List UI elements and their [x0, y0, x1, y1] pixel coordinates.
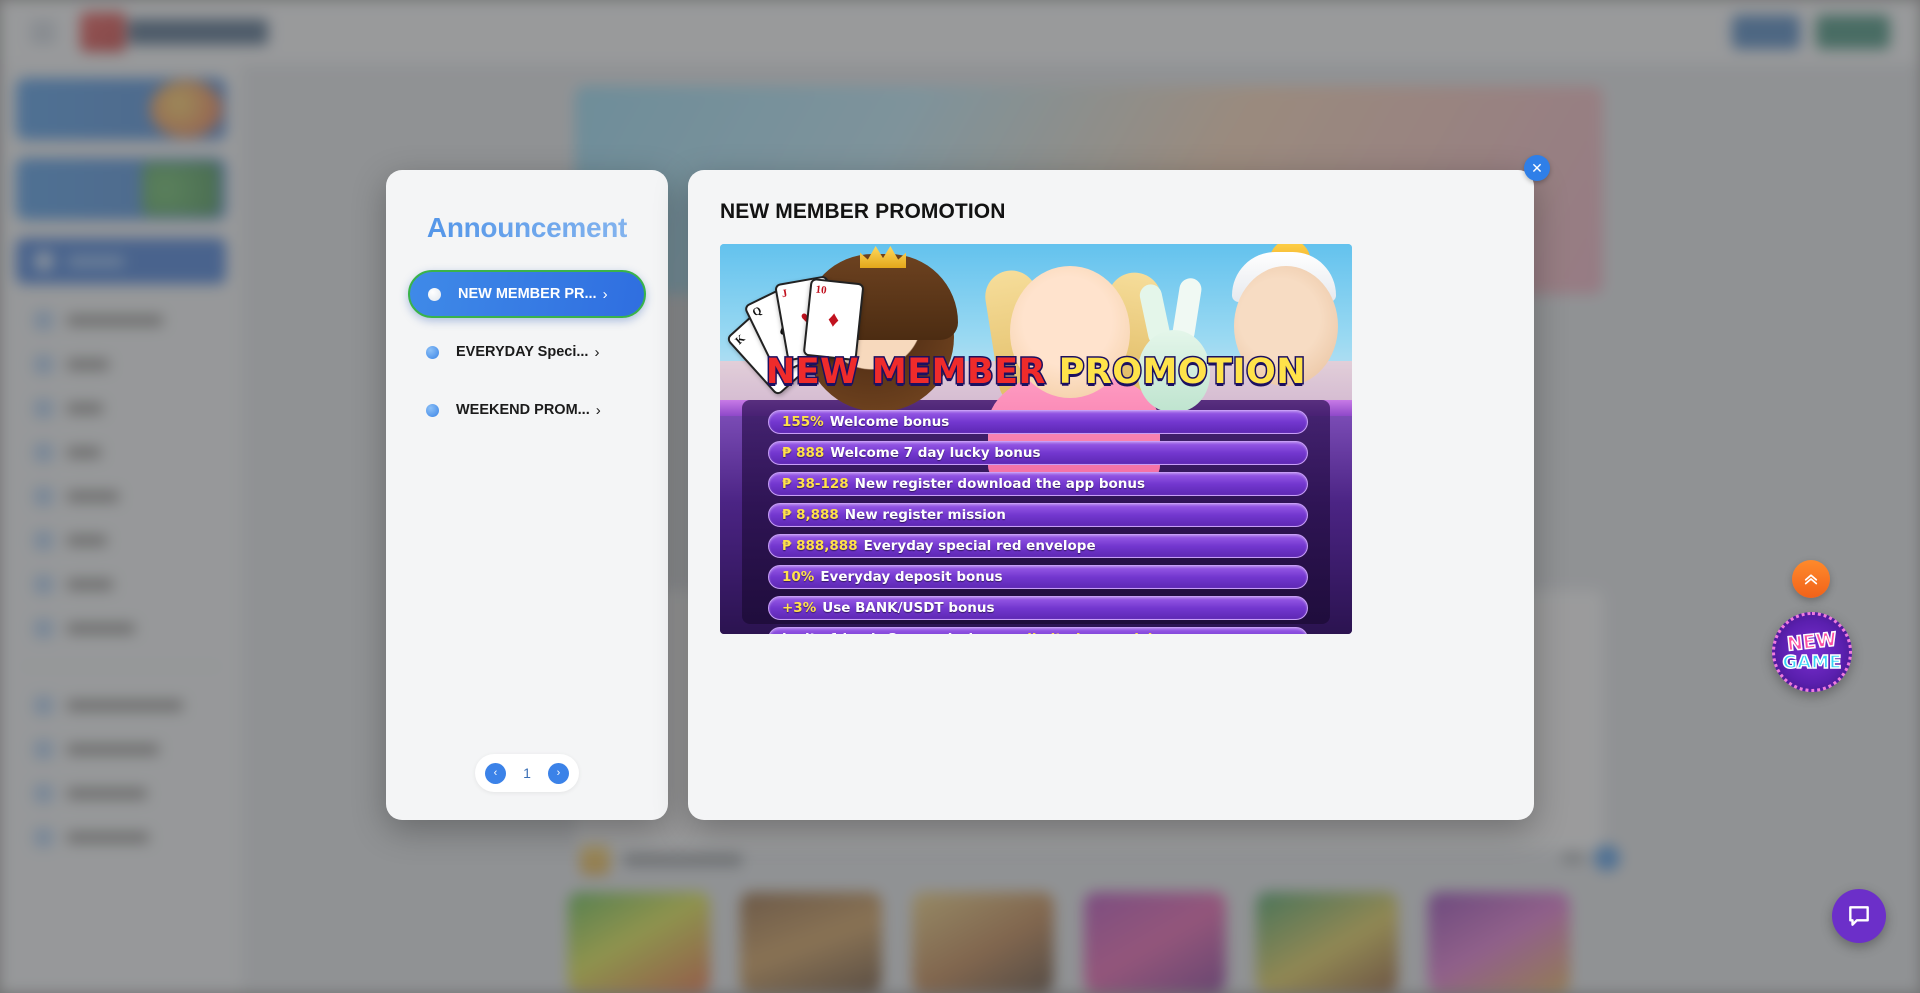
chevron-right-icon: ›	[603, 287, 608, 302]
bullet-icon	[426, 404, 439, 417]
announcement-item-label: WEEKEND PROM...	[456, 402, 590, 418]
close-icon[interactable]: ✕	[1524, 155, 1550, 181]
bonus-text: New register download the app bonus	[855, 476, 1145, 492]
bonus-row: 155% Welcome bonus	[768, 410, 1308, 434]
bonus-row: +3% Use BANK/USDT bonus	[768, 596, 1308, 620]
banner-title-part2: PROMOTION	[1059, 352, 1306, 392]
chevron-right-icon: ›	[596, 403, 601, 418]
promotion-banner-image: K ♣ Q ♠ J ♥ 10 ♦ NEW MEMBER PROMOTIO	[720, 244, 1352, 634]
pagination: ‹ 1 ›	[475, 754, 579, 792]
panel-title: Announcement	[408, 212, 646, 244]
bullet-icon	[428, 288, 441, 301]
announcement-item-new-member[interactable]: NEW MEMBER PR... ›	[408, 270, 646, 318]
card-suit-icon: ♦	[827, 306, 841, 333]
bonus-text: Use BANK/USDT bonus	[822, 600, 994, 616]
pagination-next-button[interactable]: ›	[548, 763, 569, 784]
bonus-text: New register mission	[845, 507, 1006, 523]
bonus-row: ₱ 888,888 Everyday special red envelope	[768, 534, 1308, 558]
bonus-text: Everyday special red envelope	[864, 538, 1096, 554]
announcement-list-panel: Announcement NEW MEMBER PR... › EVERYDAY…	[386, 170, 668, 820]
card-rank: K	[733, 333, 747, 348]
chat-bubble-icon	[1846, 903, 1872, 929]
pagination-prev-button[interactable]: ‹	[485, 763, 506, 784]
card-rank: Q	[751, 304, 764, 319]
announcement-modal: Announcement NEW MEMBER PR... › EVERYDAY…	[386, 170, 1534, 820]
scroll-to-top-button[interactable]	[1792, 560, 1830, 598]
bonus-row: invite friends 3 commissions unlimited r…	[768, 627, 1308, 634]
playing-card: 10 ♦	[803, 278, 865, 361]
bonus-list: 155% Welcome bonus ₱ 888 Welcome 7 day l…	[768, 410, 1308, 634]
announcement-item-weekend-promo[interactable]: WEEKEND PROM... ›	[408, 386, 646, 434]
bonus-text: Welcome 7 day lucky bonus	[830, 445, 1040, 461]
bonus-highlight: ₱ 888	[782, 445, 824, 461]
double-chevron-up-icon	[1802, 570, 1820, 588]
bonus-highlight: ₱ 888,888	[782, 538, 858, 554]
bonus-highlight: 10%	[782, 569, 814, 585]
announcement-item-label: EVERYDAY Speci...	[456, 344, 588, 360]
bullet-icon	[426, 346, 439, 359]
bonus-highlight: 155%	[782, 414, 824, 430]
bonus-highlight: ₱ 38-128	[782, 476, 849, 492]
bonus-highlight: ₱ 8,888	[782, 507, 839, 523]
card-rank: J	[781, 287, 789, 300]
new-game-badge[interactable]: NEW GAME	[1772, 612, 1852, 692]
bonus-row: ₱ 8,888 New register mission	[768, 503, 1308, 527]
banner-title-part1: NEW MEMBER	[766, 352, 1046, 392]
chevron-right-icon: ›	[594, 345, 599, 360]
announcement-list: NEW MEMBER PR... › EVERYDAY Speci... › W…	[408, 270, 646, 444]
announcement-detail-panel: ✕ NEW MEMBER PROMOTION K	[688, 170, 1534, 820]
bonus-text: Welcome bonus	[830, 414, 950, 430]
bonus-row: ₱ 888 Welcome 7 day lucky bonus	[768, 441, 1308, 465]
new-game-line1: NEW	[1786, 630, 1838, 654]
live-chat-button[interactable]	[1832, 889, 1886, 943]
announcement-item-everyday-special[interactable]: EVERYDAY Speci... ›	[408, 328, 646, 376]
bonus-text: invite friends 3 commissions	[782, 631, 1000, 634]
announcement-item-label: NEW MEMBER PR...	[458, 286, 597, 302]
card-rank: 10	[815, 284, 827, 297]
bonus-row: 10% Everyday deposit bonus	[768, 565, 1308, 589]
promotion-heading: NEW MEMBER PROMOTION	[720, 200, 1502, 224]
pagination-page-number: 1	[522, 765, 532, 781]
bonus-text: Everyday deposit bonus	[820, 569, 1002, 585]
bonus-row: ₱ 38-128 New register download the app b…	[768, 472, 1308, 496]
bonus-highlight-end: unlimited rewards!	[1008, 631, 1153, 634]
new-game-line2: GAME	[1783, 654, 1842, 672]
banner-title: NEW MEMBER PROMOTION	[720, 352, 1352, 392]
bonus-highlight: +3%	[782, 600, 816, 616]
